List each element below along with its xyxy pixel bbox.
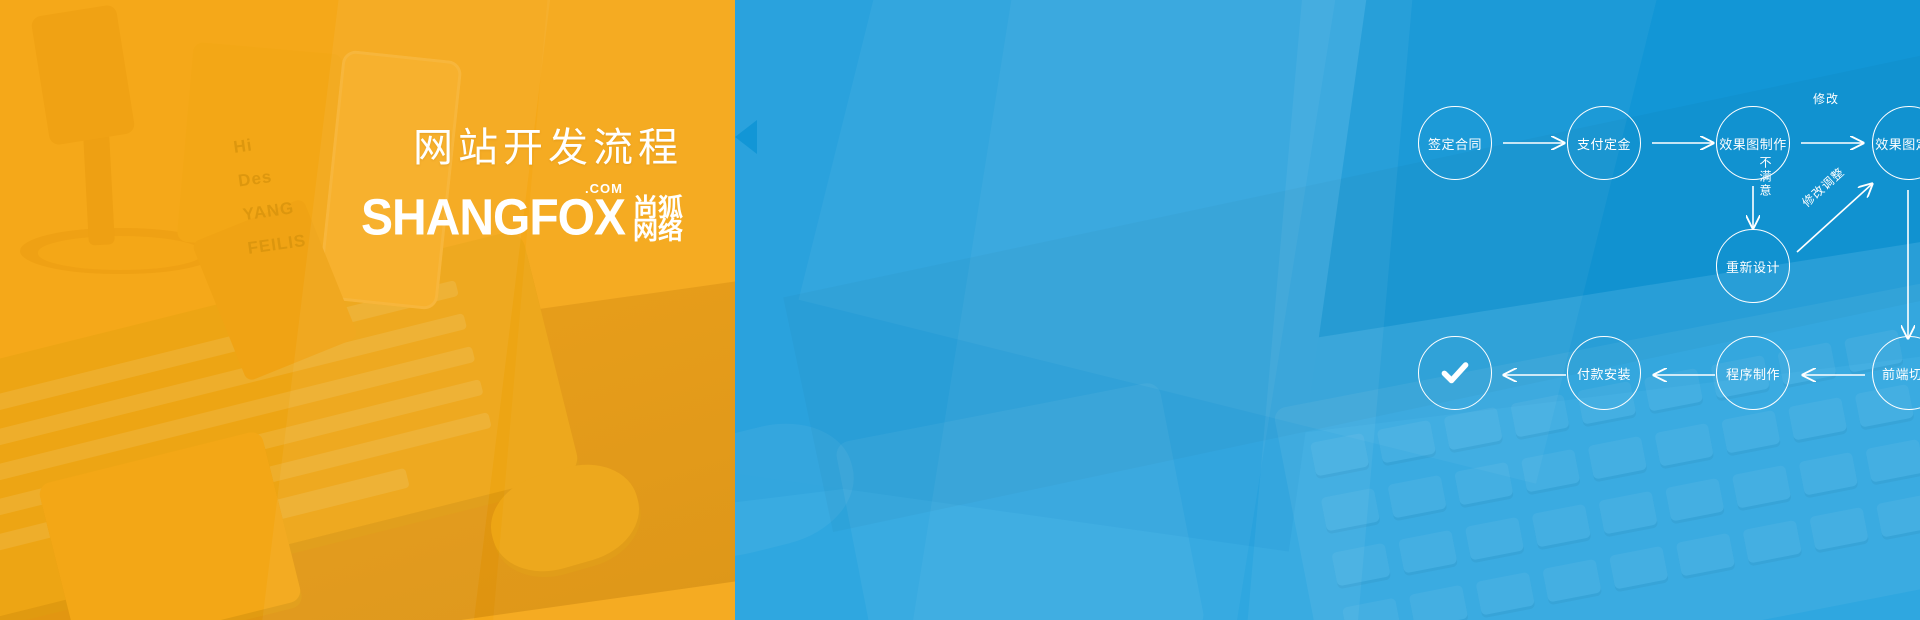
flow-node-redesign[interactable]: 重新设计 bbox=[1716, 229, 1790, 303]
right-blue-panel: 签定合同 支付定金 效果图制作 效果图定稿 重新设计 bbox=[735, 0, 1920, 620]
brand-logo[interactable]: SHANGFOX .COM 尚狐 网络 bbox=[361, 196, 683, 244]
flow-node-mockup-design[interactable]: 效果图制作 bbox=[1716, 106, 1790, 180]
flow-node-payment-installation[interactable]: 付款安装 bbox=[1567, 336, 1641, 410]
flowchart: 签定合同 支付定金 效果图制作 效果图定稿 重新设计 bbox=[735, 0, 1920, 620]
flow-node-label: 签定合同 bbox=[1428, 134, 1482, 153]
stand-top-shape bbox=[30, 4, 135, 146]
logo-cn-line-2: 网络 bbox=[633, 220, 683, 243]
flowchart-connectors bbox=[735, 0, 1920, 620]
logo-tld: .COM bbox=[585, 181, 623, 196]
flow-node-label: 支付定金 bbox=[1577, 134, 1631, 153]
seam-notch-arrow-icon bbox=[735, 120, 757, 154]
page-title: 网站开发流程 bbox=[361, 128, 683, 168]
flow-node-sign-contract[interactable]: 签定合同 bbox=[1418, 106, 1492, 180]
website-process-banner: HiDesYANGFEILIS 网站开发流程 SHANGFOX .COM 尚狐 … bbox=[0, 0, 1920, 620]
left-text-block: 网站开发流程 SHANGFOX .COM 尚狐 网络 bbox=[361, 128, 683, 244]
desk-photo-yellow-overlay: HiDesYANGFEILIS bbox=[0, 0, 735, 620]
left-yellow-panel: HiDesYANGFEILIS 网站开发流程 SHANGFOX .COM 尚狐 … bbox=[0, 0, 735, 620]
flow-node-pay-deposit[interactable]: 支付定金 bbox=[1567, 106, 1641, 180]
flow-node-complete[interactable] bbox=[1418, 336, 1492, 410]
flow-node-program-development[interactable]: 程序制作 bbox=[1716, 336, 1790, 410]
flow-node-label: 效果图定稿 bbox=[1875, 134, 1920, 153]
flow-node-label: 付款安装 bbox=[1577, 364, 1631, 383]
flow-node-label: 前端切图 bbox=[1882, 364, 1920, 383]
logo-wordmark: SHANGFOX bbox=[361, 193, 625, 244]
flow-node-label: 程序制作 bbox=[1726, 364, 1780, 383]
flow-node-label: 效果图制作 bbox=[1719, 134, 1787, 153]
node-ring bbox=[1418, 336, 1492, 410]
logo-wordmark-wrap: SHANGFOX .COM bbox=[361, 196, 625, 244]
edge-label-unsatisfied: 不满意 bbox=[1757, 156, 1774, 198]
edge-label-revise: 修改 bbox=[1813, 90, 1839, 107]
logo-chinese-name: 尚狐 网络 bbox=[633, 197, 683, 244]
stand-base-inner-shape bbox=[38, 236, 203, 270]
flow-node-label: 重新设计 bbox=[1726, 257, 1780, 276]
